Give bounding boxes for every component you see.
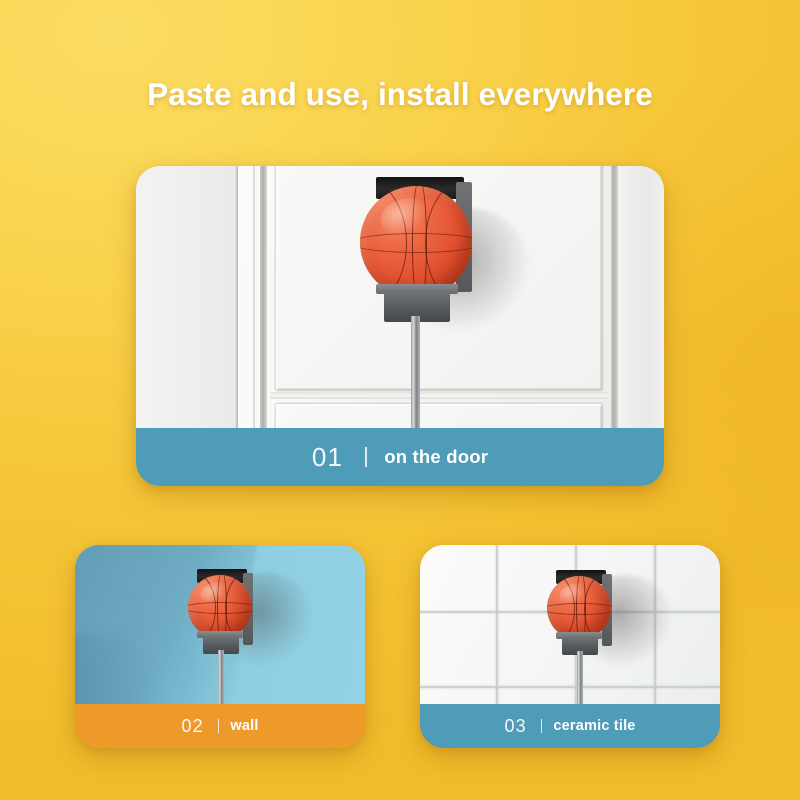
- support-pole: [577, 651, 583, 704]
- support-pole: [411, 316, 420, 428]
- card-label: wall: [230, 718, 258, 734]
- basketball: [547, 576, 611, 640]
- card-number: 03: [504, 716, 526, 737]
- promo-banner: Paste and use, install everywhere: [0, 0, 800, 800]
- feature-card-on-the-door[interactable]: 01 on the door: [136, 166, 664, 486]
- scene-panel-door: [136, 166, 664, 428]
- card-label: ceramic tile: [553, 718, 635, 734]
- card-caption: 02 wall: [75, 704, 365, 748]
- ball-seam-arc-right: [425, 186, 472, 298]
- basketball: [360, 186, 472, 298]
- door-panel-lower: [276, 404, 602, 428]
- door-jamb-right: [611, 166, 618, 428]
- caption-separator: [365, 447, 367, 467]
- grout-line-vertical: [496, 545, 498, 704]
- page-title: Paste and use, install everywhere: [0, 76, 800, 113]
- grout-line-horizontal: [420, 686, 720, 688]
- ball-seam-arc-right: [584, 576, 611, 640]
- door-rail: [270, 392, 608, 399]
- card-label: on the door: [384, 446, 488, 468]
- scene-blue-wall: [75, 545, 365, 704]
- ball-seam-arc-right: [225, 575, 252, 639]
- card-number: 02: [181, 716, 203, 737]
- door-reveal: [252, 166, 255, 428]
- feature-card-wall[interactable]: 02 wall: [75, 545, 365, 748]
- wall-right: [618, 166, 664, 428]
- caption-separator: [541, 719, 543, 733]
- wall-left: [136, 166, 238, 428]
- caption-separator: [218, 719, 220, 733]
- card-caption: 03 ceramic tile: [420, 704, 720, 748]
- card-number: 01: [312, 442, 343, 473]
- feature-card-ceramic-tile[interactable]: 03 ceramic tile: [420, 545, 720, 748]
- wall-corner-shadow: [75, 634, 197, 704]
- basketball: [188, 575, 252, 639]
- card-caption: 01 on the door: [136, 428, 664, 486]
- door-jamb-left: [260, 166, 267, 428]
- support-pole: [218, 650, 224, 704]
- scene-ceramic-tile: [420, 545, 720, 704]
